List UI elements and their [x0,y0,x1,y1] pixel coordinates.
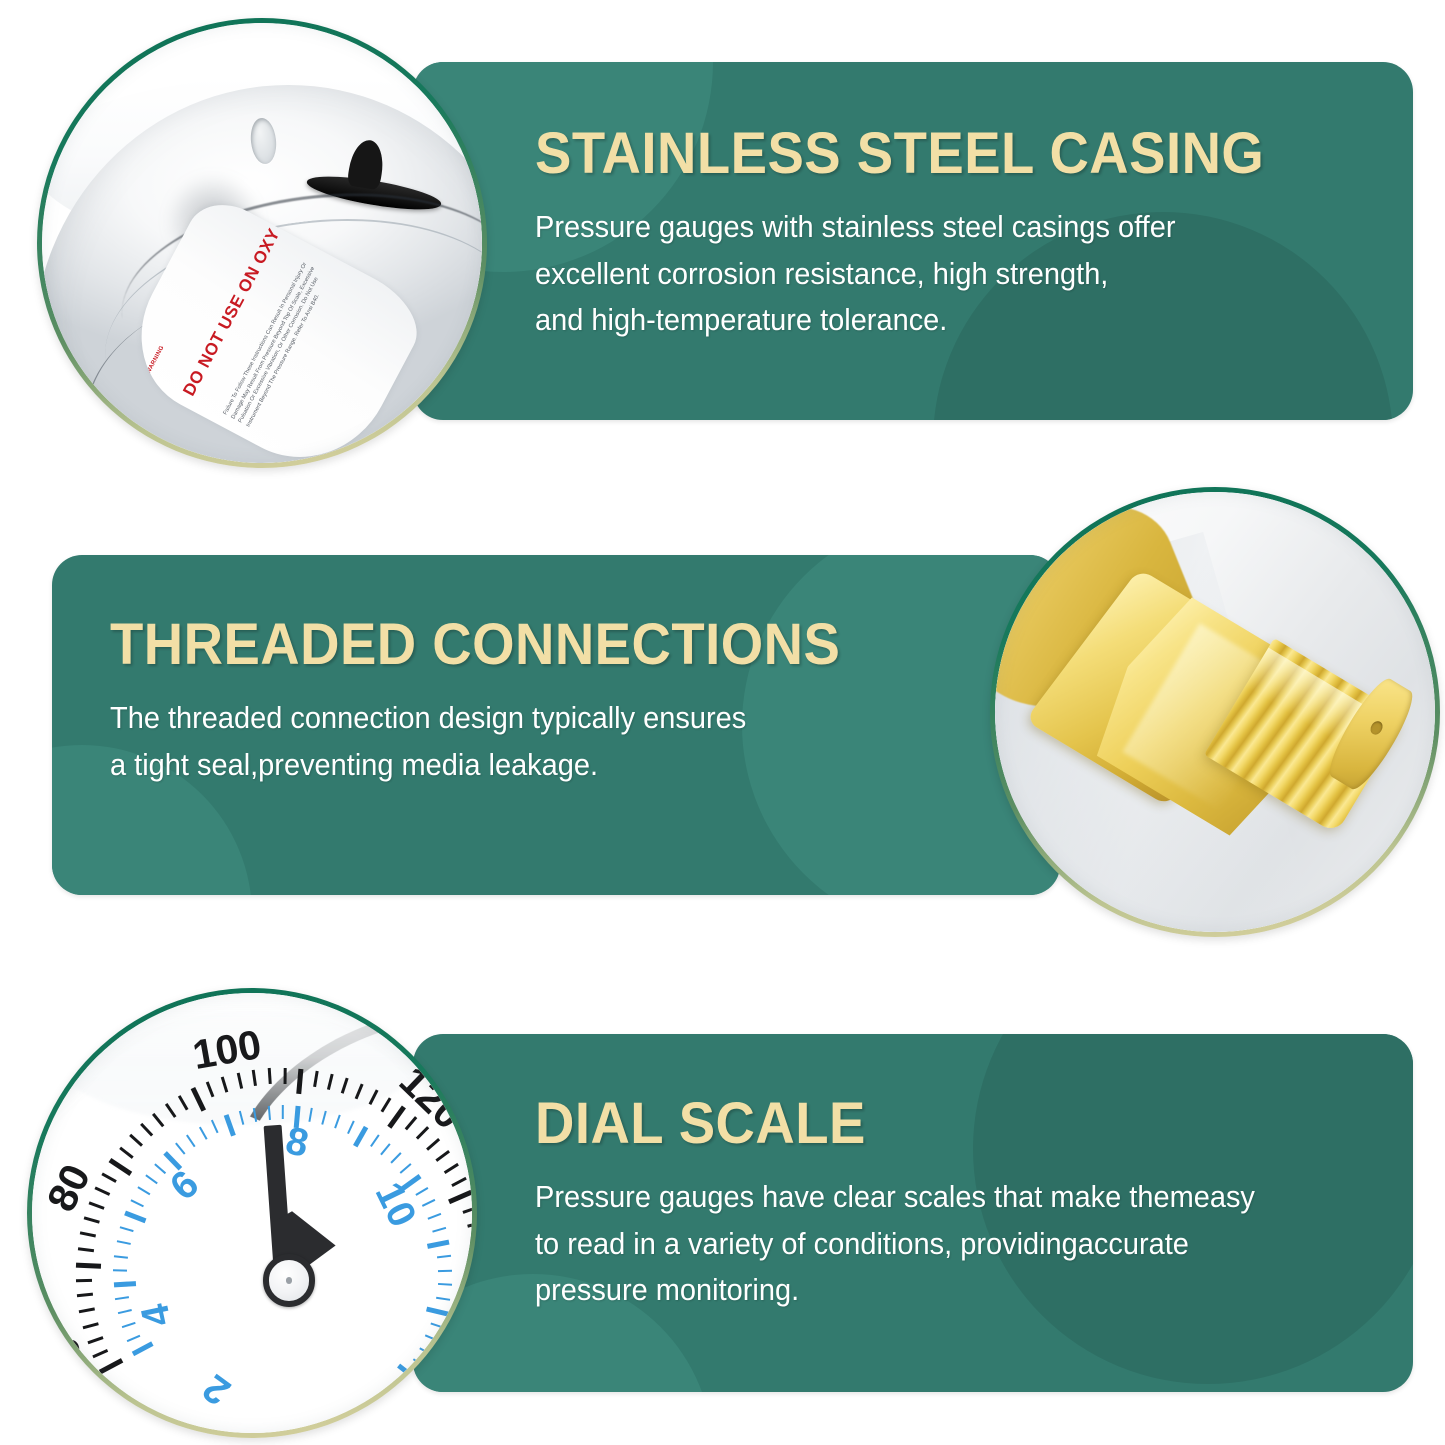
feature-image-threaded-connections [990,487,1440,937]
feature-body-line: Pressure gauges have clear scales that m… [535,1174,1362,1220]
feature-title: STAINLESS STEEL CASING [535,124,1315,184]
feature-body: Pressure gauges with stainless steel cas… [535,204,1324,343]
feature-panel-threaded-connections: THREADED CONNECTIONS The threaded connec… [52,555,1060,895]
dial-scale-photo: 6080100120 246810 [32,993,472,1433]
feature-body-line: to read in a variety of conditions, prov… [535,1221,1362,1267]
feature-title: DIAL SCALE [535,1094,1353,1154]
threaded-connection-photo [995,492,1435,932]
feature-body-line: a tight seal,preventing media leakage. [110,742,908,788]
feature-image-dial-scale: 6080100120 246810 [27,988,477,1438]
feature-image-stainless-steel-casing: WARNING DO NOT USE ON OXY Failure To Fol… [37,18,487,468]
feature-body-line: pressure monitoring. [535,1267,1362,1313]
stainless-steel-casing-photo: WARNING DO NOT USE ON OXY Failure To Fol… [42,23,482,463]
feature-body: Pressure gauges have clear scales that m… [535,1174,1362,1313]
feature-title: THREADED CONNECTIONS [110,615,900,675]
feature-body-line: and high-temperature tolerance. [535,297,1324,343]
feature-body: The threaded connection design typically… [110,695,908,788]
feature-panel-dial-scale: DIAL SCALE Pressure gauges have clear sc… [413,1034,1413,1392]
feature-body-line: The threaded connection design typically… [110,695,908,741]
gauge-needle-hub [263,1254,315,1306]
feature-panel-stainless-steel-casing: STAINLESS STEEL CASING Pressure gauges w… [413,62,1413,420]
warning-label-header: WARNING [145,344,165,374]
feature-body-line: excellent corrosion resistance, high str… [535,251,1324,297]
feature-body-line: Pressure gauges with stainless steel cas… [535,204,1324,250]
infographic-canvas: STAINLESS STEEL CASING Pressure gauges w… [0,0,1445,1445]
